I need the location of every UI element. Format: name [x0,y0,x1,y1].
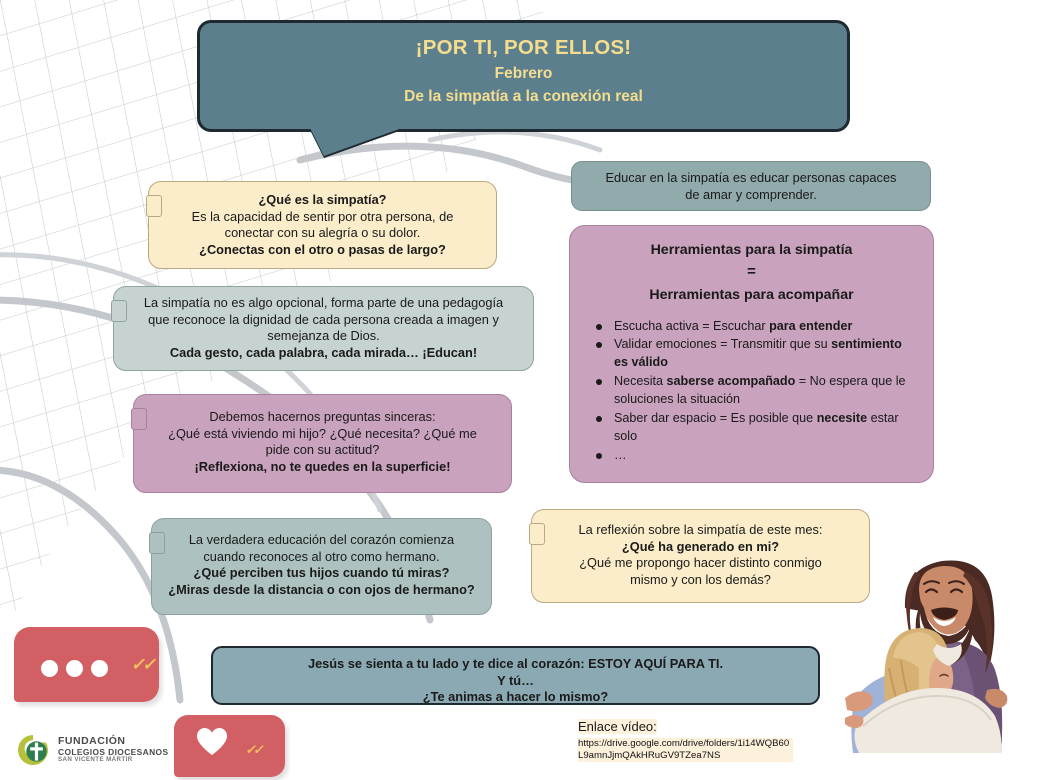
header-month: Febrero [220,62,827,85]
que-es-line2: Es la capacidad de sentir por otra perso… [163,209,482,226]
bullet-text-bold: saberse acompañado [667,374,796,388]
header-subtitle: De la simpatía a la conexión real [220,85,827,108]
herramientas-bullet-5: … [614,447,917,465]
que-es-line4: ¿Conectas con el otro o pasas de largo? [199,242,446,257]
foundation-logo: FUNDACIÓN COLEGIOS DIOCESANOS SAN VICENT… [16,733,168,767]
pedagogia-line2: que reconoce la dignidad de cada persona… [128,312,519,329]
jesus-line3: ¿Te animas a hacer lo mismo? [227,689,804,706]
video-link-url[interactable]: https://drive.google.com/drive/folders/1… [578,738,793,762]
corazon-line2: cuando reconoces al otro como hermano. [164,549,479,566]
header-banner: ¡POR TI, POR ELLOS! Febrero De la simpat… [197,20,850,132]
pedagogia-line4: Cada gesto, cada palabra, cada mirada… ¡… [170,345,477,360]
preguntas-line3: pide con su actitud? [148,442,497,459]
chat-bubble-heart: ✓✓ [174,715,285,777]
chat-bubble-typing: ✓✓ [14,627,159,702]
heart-icon [196,727,228,756]
corazon-line1: La verdadera educación del corazón comie… [164,532,479,549]
herramientas-heading-1: Herramientas para la simpatía [580,239,923,261]
box-pedagogia: La simpatía no es algo opcional, forma p… [113,286,534,371]
preguntas-line4: ¡Reflexiona, no te quedes en la superfic… [194,459,450,474]
box-jesus-quote: Jesús se sienta a tu lado y te dice al c… [211,646,820,705]
box-preguntas-sinceras: Debemos hacernos preguntas sinceras: ¿Qu… [133,394,512,493]
bullet-text-pre: Necesita [614,374,667,388]
educar-line2: de amar y comprender. [584,187,918,204]
box-herramientas: Herramientas para la simpatía = Herramie… [569,225,934,483]
header-title: ¡POR TI, POR ELLOS! [220,34,827,62]
que-es-line3: conectar con su alegría o su dolor. [163,225,482,242]
herramientas-bullet-1: Escucha activa = Escuchar para entender [614,318,917,336]
corazon-bubble-tail [149,532,165,554]
jesus-hug-illustration [845,548,1040,780]
corazon-line3: ¿Qué perciben tus hijos cuando tú miras? [194,565,450,580]
pedagogia-bubble-tail [111,300,127,322]
header-banner-tail [310,128,402,156]
preguntas-line2: ¿Qué está viviendo mi hijo? ¿Qué necesit… [148,426,497,443]
preguntas-line1: Debemos hacernos preguntas sinceras: [148,409,497,426]
pedagogia-line3: semejanza de Dios. [128,328,519,345]
herramientas-heading-2: Herramientas para acompañar [580,284,923,306]
educar-line1: Educar en la simpatía es educar personas… [584,170,918,187]
jesus-line1: Jesús se sienta a tu lado y te dice al c… [227,656,804,673]
herramientas-bullet-3: Necesita saberse acompañado = No espera … [614,373,917,409]
cross-circle-logo-icon [16,733,50,767]
reflexion-line3: ¿Qué me propongo hacer distinto conmigo [548,555,853,572]
bullet-text-bold: para entender [769,319,852,333]
video-link-label: Enlace vídeo: [578,719,657,734]
double-check-icon-small: ✓✓ [244,742,263,758]
que-es-bubble-tail [146,195,162,217]
preguntas-bubble-tail [131,408,147,430]
bullet-text-bold: necesite [817,411,867,425]
herramientas-equals: = [580,261,923,284]
bullet-text-pre: Escucha activa = Escuchar [614,319,769,333]
bullet-text-pre: Validar emociones = Transmitir que su [614,337,831,351]
box-que-es-la-simpatia: ¿Qué es la simpatía? Es la capacidad de … [148,181,497,269]
herramientas-bullet-list: Escucha activa = Escuchar para entenderV… [580,318,923,465]
double-check-icon: ✓✓ [130,655,157,675]
box-educacion-del-corazon: La verdadera educación del corazón comie… [151,518,492,615]
reflexion-line1: La reflexión sobre la simpatía de este m… [548,522,853,539]
pedagogia-line1: La simpatía no es algo opcional, forma p… [128,295,519,312]
jesus-line2: Y tú… [227,673,804,690]
herramientas-bullet-4: Saber dar espacio = Es posible que neces… [614,410,917,446]
reflexion-line4: mismo y con los demás? [548,572,853,589]
que-es-line1: ¿Qué es la simpatía? [258,192,386,207]
logo-line-3: SAN VICENTE MÁRTIR [58,757,168,764]
video-link-block[interactable]: Enlace vídeo: https://drive.google.com/d… [578,718,793,762]
bullet-text-pre: … [614,448,627,462]
typing-dots-icon [41,660,108,677]
reflexion-line2: ¿Qué ha generado en mi? [622,539,779,554]
corazon-line4: ¿Miras desde la distancia o con ojos de … [168,582,475,597]
box-reflexion-del-mes: La reflexión sobre la simpatía de este m… [531,509,870,603]
reflexion-bubble-tail [529,523,545,545]
box-educar-en-la-simpatia: Educar en la simpatía es educar personas… [571,161,931,211]
herramientas-bullet-2: Validar emociones = Transmitir que su se… [614,336,917,372]
logo-line-1: FUNDACIÓN [58,736,168,748]
bullet-text-pre: Saber dar espacio = Es posible que [614,411,817,425]
